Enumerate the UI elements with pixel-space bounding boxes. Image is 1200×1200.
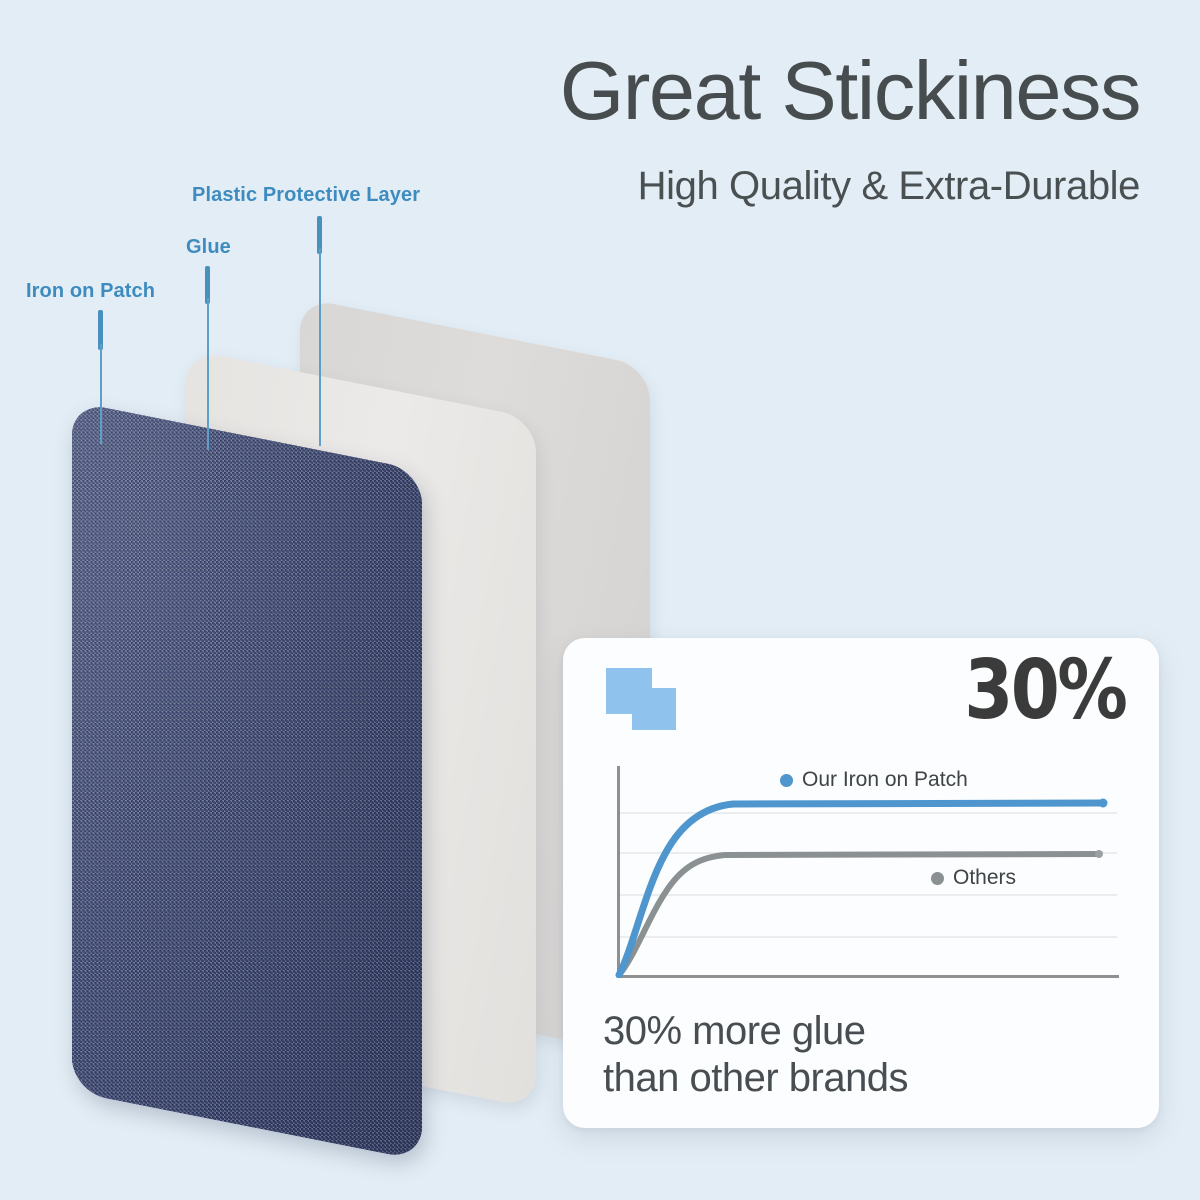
series-endpoint-others — [1095, 850, 1103, 858]
chart-series-layer — [605, 766, 1117, 978]
leader-line-tail-icon — [100, 344, 102, 444]
callout-label-iron-on-patch: Iron on Patch — [26, 280, 155, 303]
round-dot-icon — [780, 774, 793, 787]
legend-label-others: Others — [953, 866, 1016, 890]
card-caption: 30% more glue than other brands — [603, 1008, 908, 1102]
callout-label-glue: Glue — [186, 236, 231, 259]
square-front-icon — [632, 688, 676, 730]
callout-label-plastic-protective-layer: Plastic Protective Layer — [192, 184, 420, 207]
series-endpoint-ours — [1099, 799, 1108, 808]
leader-line-tail-icon — [319, 248, 321, 446]
glue-performance-chart — [605, 766, 1117, 978]
legend-label-our-iron-on-patch: Our Iron on Patch — [802, 768, 968, 792]
infographic-canvas: Great Stickiness High Quality & Extra-Du… — [0, 0, 1200, 1200]
round-dot-icon — [931, 872, 944, 885]
leader-line-tail-icon — [207, 298, 209, 450]
legend-item-our-iron-on-patch: Our Iron on Patch — [780, 768, 968, 792]
series-line-ours — [619, 803, 1103, 975]
stickiness-stat-card: 30% Our Iron on Patch Others — [563, 638, 1159, 1128]
layer-iron-on-patch — [72, 401, 422, 1160]
two-squares-icon — [606, 668, 678, 730]
caption-line-2: than other brands — [603, 1055, 908, 1102]
legend-item-others: Others — [931, 866, 1016, 890]
series-line-others — [619, 854, 1099, 975]
denim-shading-overlay — [72, 401, 422, 1160]
big-percent-value: 30% — [964, 650, 1125, 732]
caption-line-1: 30% more glue — [603, 1008, 908, 1055]
